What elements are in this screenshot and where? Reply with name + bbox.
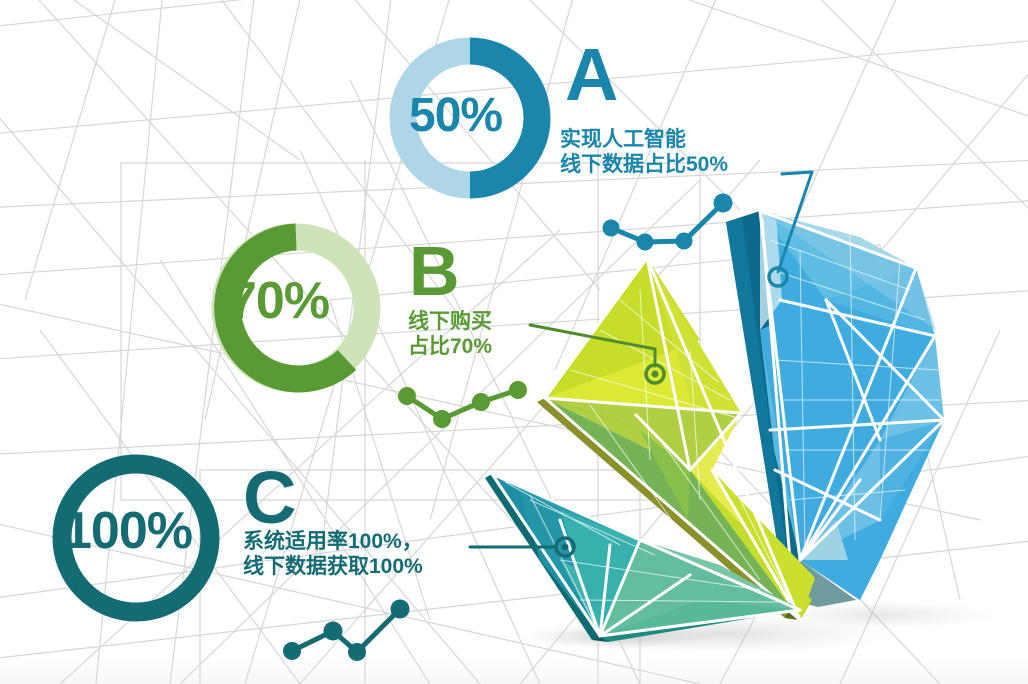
group-b-caption-line-1: 线下购买 (408, 310, 492, 335)
text-layer: 50% A 实现人工智能 线下数据占比50% 70% B 线下购买 占比70% … (0, 0, 1028, 684)
group-b-caption-line-2: 占比70% (408, 335, 492, 360)
donut-a-percent-label: 50% (409, 92, 502, 140)
infographic-canvas: 50% A 实现人工智能 线下数据占比50% 70% B 线下购买 占比70% … (0, 0, 1028, 684)
group-b-letter: B (409, 243, 460, 299)
group-c-letter: C (243, 468, 296, 527)
group-a-caption: 实现人工智能 线下数据占比50% (560, 128, 728, 178)
group-c-caption: 系统适用率100%， 线下数据获取100% (243, 530, 423, 580)
group-c-caption-line-1: 系统适用率100%， (243, 530, 423, 555)
group-a-caption-line-2: 线下数据占比50% (560, 153, 728, 178)
donut-c-percent-label: 100% (63, 505, 192, 557)
group-a-letter: A (565, 45, 618, 104)
group-c-caption-line-2: 线下数据获取100% (243, 555, 423, 580)
group-b-caption: 线下购买 占比70% (408, 310, 492, 360)
donut-b-percent-label: 70% (228, 275, 329, 327)
group-a-caption-line-1: 实现人工智能 (560, 128, 728, 153)
